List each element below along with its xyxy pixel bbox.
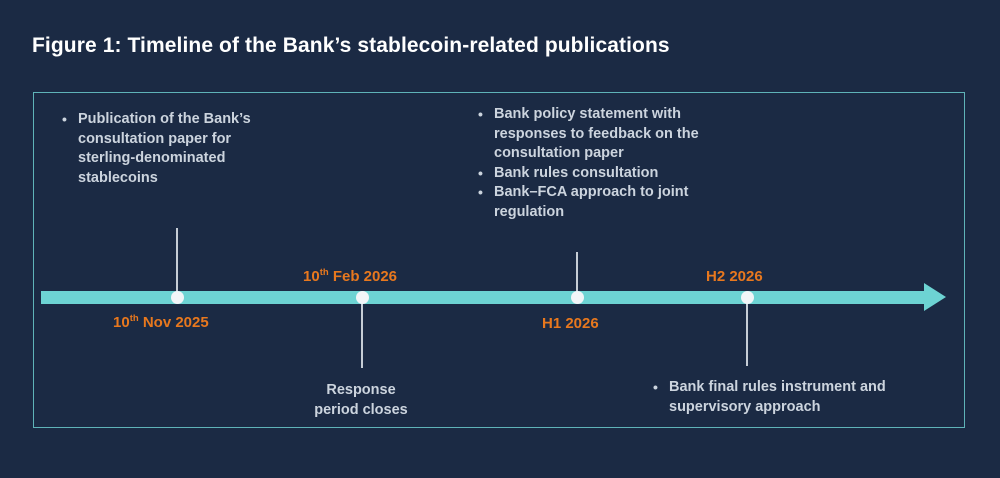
content-block-feb-2026: Response period closes — [281, 381, 441, 420]
list-item-label: Publication of the Bank’s consultation p… — [78, 110, 287, 188]
list-item-label: Bank policy statement with responses to … — [494, 105, 750, 164]
bullet-icon: • — [62, 110, 78, 130]
date-nov-2025-number: 10 — [113, 314, 130, 331]
bullet-icon: • — [478, 105, 494, 125]
content-block-nov-2025: • Publication of the Bank’s consultation… — [62, 110, 287, 188]
bullet-icon: • — [653, 378, 669, 398]
list-item-label: Bank final rules instrument and supervis… — [669, 378, 921, 417]
date-nov-2025-suffix: th — [130, 313, 139, 324]
connector-feb-2026 — [361, 300, 363, 368]
date-h2-2026-text: H2 2026 — [706, 268, 763, 285]
list-item-label: Bank rules consultation — [494, 164, 750, 184]
date-label-h2-2026: H2 2026 — [706, 268, 763, 285]
content-block-h1-2026: • Bank policy statement with responses t… — [478, 105, 750, 222]
date-feb-2026-number: 10 — [303, 268, 320, 285]
content-line: period closes — [281, 401, 441, 421]
bullet-icon: • — [478, 164, 494, 184]
list-item: • Bank policy statement with responses t… — [478, 105, 750, 164]
date-label-nov-2025: 10th Nov 2025 — [113, 314, 209, 331]
milestone-dot-h2-2026 — [741, 291, 754, 304]
milestone-dot-h1-2026 — [571, 291, 584, 304]
date-feb-2026-suffix: th — [320, 267, 329, 278]
list-item: • Bank final rules instrument and superv… — [653, 378, 921, 417]
figure-container: Figure 1: Timeline of the Bank’s stablec… — [0, 0, 1000, 478]
milestone-dot-feb-2026 — [356, 291, 369, 304]
milestone-dot-nov-2025 — [171, 291, 184, 304]
connector-h2-2026 — [746, 300, 748, 366]
content-block-h2-2026: • Bank final rules instrument and superv… — [653, 378, 921, 417]
content-line: Response — [281, 381, 441, 401]
list-item: • Publication of the Bank’s consultation… — [62, 110, 287, 188]
list-item: • Bank rules consultation — [478, 164, 750, 184]
date-h1-2026-text: H1 2026 — [542, 315, 599, 332]
list-item: • Bank–FCA approach to joint regulation — [478, 183, 750, 222]
date-label-feb-2026: 10th Feb 2026 — [303, 268, 397, 285]
figure-title: Figure 1: Timeline of the Bank’s stablec… — [32, 34, 670, 58]
timeline-arrow-icon — [924, 283, 946, 311]
connector-h1-2026 — [576, 252, 578, 294]
date-label-h1-2026: H1 2026 — [542, 315, 599, 332]
list-item-label: Bank–FCA approach to joint regulation — [494, 183, 750, 222]
bullet-icon: • — [478, 183, 494, 203]
connector-nov-2025 — [176, 228, 178, 294]
date-feb-2026-rest: Feb 2026 — [329, 268, 397, 285]
date-nov-2025-rest: Nov 2025 — [139, 314, 209, 331]
